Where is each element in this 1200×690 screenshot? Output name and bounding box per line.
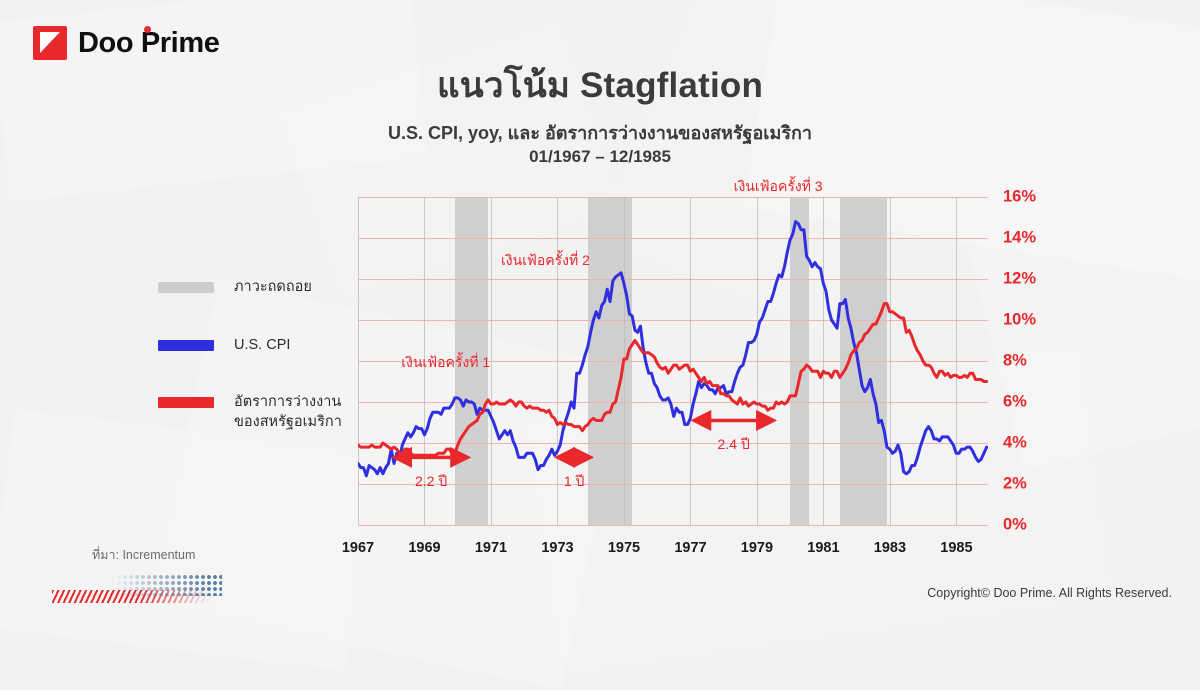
x-axis-tick: 1969 xyxy=(408,540,440,556)
annotation-inflation-wave-1: เงินเฟ้อครั้งที่ 1 xyxy=(401,352,490,374)
x-axis-tick: 1973 xyxy=(541,540,573,556)
footer-decoration xyxy=(52,580,222,606)
stagflation-chart: 2.2 ปี1 ปี2.4 ปีเงินเฟ้อครั้งที่ 1เงินเฟ… xyxy=(358,197,988,525)
horizontal-gridline xyxy=(358,525,988,526)
y-axis-tick: 10% xyxy=(1003,311,1036,330)
legend-label-us-cpi: U.S. CPI xyxy=(234,336,290,356)
x-axis-labels: 1967196919711973197519771979198119831985 xyxy=(358,540,988,564)
page-subtitle: U.S. CPI, yoy, และ อัตราการว่างงานของสหร… xyxy=(0,118,1200,147)
x-axis-tick: 1985 xyxy=(940,540,972,556)
y-axis-tick: 4% xyxy=(1003,434,1027,453)
logo-accent-dot-icon xyxy=(144,26,151,33)
source-note: ที่มา: Incrementum xyxy=(92,545,195,565)
x-axis-tick: 1983 xyxy=(874,540,906,556)
legend-label-line-2: ของสหรัฐอเมริกา xyxy=(234,414,342,430)
page-title: แนวโน้ม Stagflation xyxy=(0,58,1200,113)
copyright-text: Copyright© Doo Prime. All Rights Reserve… xyxy=(927,586,1172,600)
legend-swatch-us-cpi xyxy=(158,340,214,351)
brand-name: Doo Prime xyxy=(78,27,219,60)
legend-swatch-us-unemployment xyxy=(158,397,214,408)
legend-swatch-recession xyxy=(158,282,214,293)
legend-item-us-unemployment: อัตราการว่างงาน ของสหรัฐอเมริกา xyxy=(158,393,348,432)
y-axis-labels: 0%2%4%6%8%10%12%14%16% xyxy=(1003,197,1063,525)
x-axis-tick: 1967 xyxy=(342,540,374,556)
chart-legend: ภาวะถดถอย U.S. CPI อัตราการว่างงาน ของสห… xyxy=(158,278,348,470)
annotation-inflation-wave-3: เงินเฟ้อครั้งที่ 3 xyxy=(734,176,823,198)
x-axis-tick: 1979 xyxy=(741,540,773,556)
annotation-inflation-wave-2: เงินเฟ้อครั้งที่ 2 xyxy=(501,250,590,272)
span-label-gap-1-year: 1 ปี xyxy=(564,471,585,493)
x-axis-tick: 1977 xyxy=(674,540,706,556)
x-axis-tick: 1981 xyxy=(807,540,839,556)
y-axis-tick: 2% xyxy=(1003,475,1027,494)
legend-item-recession: ภาวะถดถอย xyxy=(158,278,348,298)
y-axis-tick: 6% xyxy=(1003,393,1027,412)
series-line-us-unemployment xyxy=(358,304,987,456)
legend-label-us-unemployment: อัตราการว่างงาน ของสหรัฐอเมริกา xyxy=(234,393,342,432)
x-axis-tick: 1971 xyxy=(475,540,507,556)
span-label-gap-2-2-years: 2.2 ปี xyxy=(415,471,447,493)
span-label-gap-2-4-years: 2.4 ปี xyxy=(718,434,750,456)
chart-series-layer: 2.2 ปี1 ปี2.4 ปีเงินเฟ้อครั้งที่ 1เงินเฟ… xyxy=(358,197,988,525)
y-axis-tick: 0% xyxy=(1003,516,1027,535)
legend-label-recession: ภาวะถดถอย xyxy=(234,278,312,298)
doo-prime-mark-icon xyxy=(33,26,67,60)
y-axis-tick: 12% xyxy=(1003,270,1036,289)
brand-logo: Doo Prime xyxy=(33,26,219,60)
x-axis-tick: 1975 xyxy=(608,540,640,556)
series-line-us-cpi xyxy=(358,222,987,476)
y-axis-tick: 8% xyxy=(1003,352,1027,371)
footer-dots xyxy=(110,574,222,596)
y-axis-tick: 14% xyxy=(1003,229,1036,248)
legend-label-line-1: อัตราการว่างงาน xyxy=(234,394,341,410)
legend-item-us-cpi: U.S. CPI xyxy=(158,336,348,356)
date-range: 01/1967 – 12/1985 xyxy=(0,147,1200,167)
y-axis-tick: 16% xyxy=(1003,188,1036,207)
